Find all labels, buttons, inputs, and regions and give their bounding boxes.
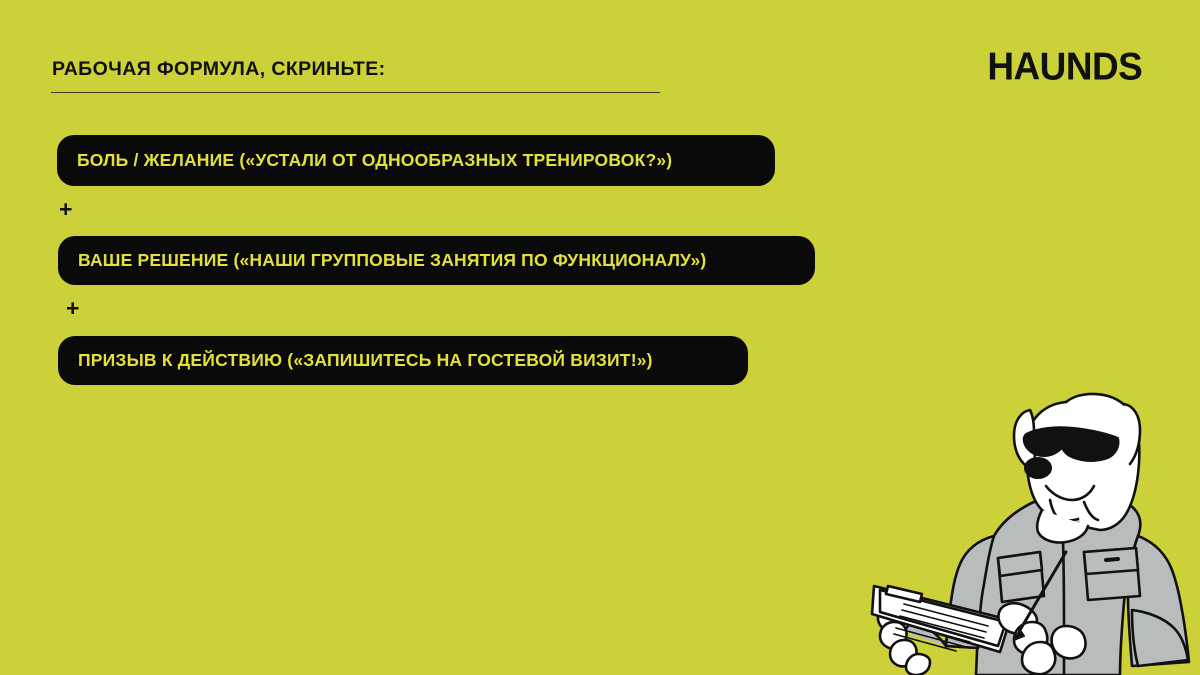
formula-step-1-label: БОЛЬ / ЖЕЛАНИЕ («УСТАЛИ ОТ ОДНООБРАЗНЫХ … xyxy=(77,150,672,171)
dog-with-clipboard-illustration xyxy=(870,390,1200,675)
page-title: РАБОЧАЯ ФОРМУЛА, СКРИНЬТЕ: xyxy=(52,58,386,81)
slide-canvas: HAUNDS РАБОЧАЯ ФОРМУЛА, СКРИНЬТЕ: БОЛЬ /… xyxy=(0,0,1200,675)
plus-connector-1: + xyxy=(59,198,72,221)
formula-step-3-label: ПРИЗЫВ К ДЕЙСТВИЮ («ЗАПИШИТЕСЬ НА ГОСТЕВ… xyxy=(78,350,653,371)
formula-step-2: ВАШЕ РЕШЕНИЕ («НАШИ ГРУППОВЫЕ ЗАНЯТИЯ ПО… xyxy=(58,236,815,285)
formula-step-1: БОЛЬ / ЖЕЛАНИЕ («УСТАЛИ ОТ ОДНООБРАЗНЫХ … xyxy=(57,135,775,186)
brand-logo: HAUNDS xyxy=(987,44,1142,89)
formula-step-3: ПРИЗЫВ К ДЕЙСТВИЮ («ЗАПИШИТЕСЬ НА ГОСТЕВ… xyxy=(58,336,748,385)
plus-connector-2: + xyxy=(66,297,79,320)
formula-step-2-label: ВАШЕ РЕШЕНИЕ («НАШИ ГРУППОВЫЕ ЗАНЯТИЯ ПО… xyxy=(78,250,706,271)
title-divider xyxy=(51,92,660,93)
